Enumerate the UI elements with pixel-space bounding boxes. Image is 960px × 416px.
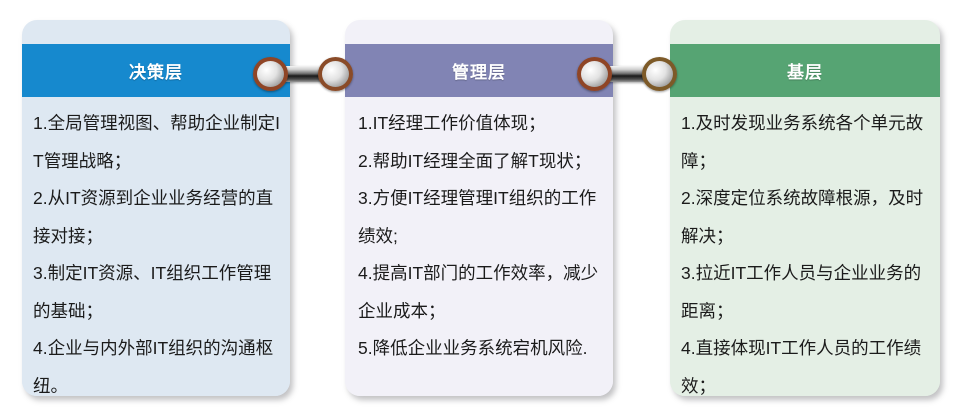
card-decision-layer[interactable]: 1.全局管理视图、帮助企业制定IT管理战略； 2.从IT资源到企业业务经营的直接… <box>22 20 290 396</box>
card-decision-header: 决策层 <box>22 44 290 97</box>
card-base-text: 1.及时发现业务系统各个单元故障； 2.深度定位系统故障根源，及时解决； 3.拉… <box>681 105 935 396</box>
connector-ring-left-icon <box>253 57 288 91</box>
connector-ring-left-icon <box>577 57 612 91</box>
card-management-text: 1.IT经理工作价值体现； 2.帮助IT经理全面了解T现状； 3.方便IT经理管… <box>358 105 605 368</box>
card-decision-body: 1.全局管理视图、帮助企业制定IT管理战略； 2.从IT资源到企业业务经营的直接… <box>22 97 290 396</box>
card-base-layer[interactable]: 1.及时发现业务系统各个单元故障； 2.深度定位系统故障根源，及时解决； 3.拉… <box>670 20 940 396</box>
card-management-body: 1.IT经理工作价值体现； 2.帮助IT经理全面了解T现状； 3.方便IT经理管… <box>345 97 613 396</box>
connector-ring-right-icon <box>642 57 677 91</box>
card-management-header: 管理层 <box>345 44 613 97</box>
card-decision-text: 1.全局管理视图、帮助企业制定IT管理战略； 2.从IT资源到企业业务经营的直接… <box>33 105 282 396</box>
card-base-body: 1.及时发现业务系统各个单元故障； 2.深度定位系统故障根源，及时解决； 3.拉… <box>670 97 940 396</box>
card-base-title: 基层 <box>787 58 823 83</box>
barbell-link-icon-management-base <box>577 57 677 91</box>
card-base-header: 基层 <box>670 44 940 97</box>
barbell-link-icon-decision-management <box>253 57 353 91</box>
card-management-layer[interactable]: 1.IT经理工作价值体现； 2.帮助IT经理全面了解T现状； 3.方便IT经理管… <box>345 20 613 396</box>
card-management-title: 管理层 <box>452 58 506 83</box>
diagram-canvas: 1.全局管理视图、帮助企业制定IT管理战略； 2.从IT资源到企业业务经营的直接… <box>0 0 960 416</box>
connector-ring-right-icon <box>318 57 353 91</box>
card-decision-title: 决策层 <box>129 58 183 83</box>
